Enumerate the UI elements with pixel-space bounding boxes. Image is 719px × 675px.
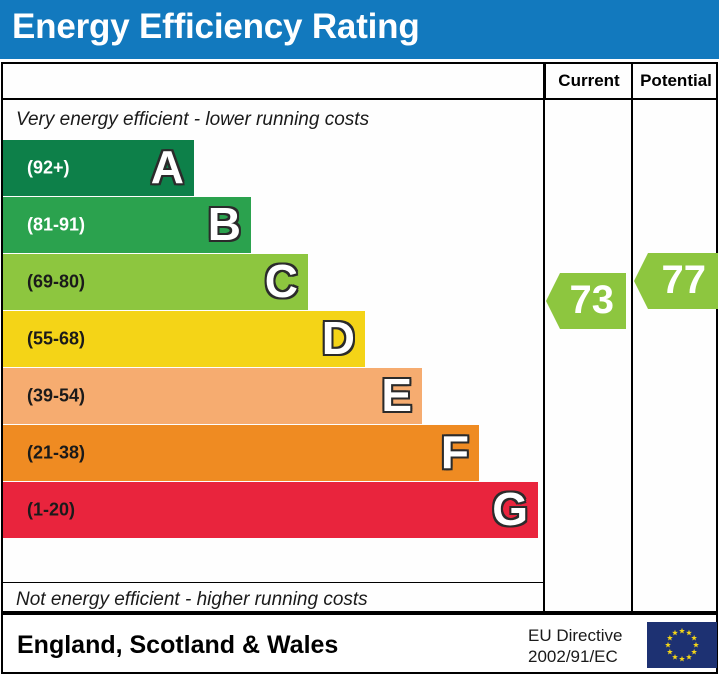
band-range-d: (55-68) [27, 329, 85, 350]
current-rating-value: 73 [570, 280, 615, 320]
band-range-b: (81-91) [27, 215, 85, 236]
band-letter-f: F [441, 429, 469, 475]
band-a: (92+)A [3, 140, 194, 196]
band-letter-g: G [492, 486, 528, 532]
band-f: (21-38)F [3, 425, 479, 481]
page-title: Energy Efficiency Rating [12, 7, 420, 47]
band-b: (81-91)B [3, 197, 251, 253]
eu-directive-line2: 2002/91/EC [528, 646, 622, 667]
band-g: (1-20)G [3, 482, 538, 538]
band-range-c: (69-80) [27, 272, 85, 293]
caption-efficient: Very energy efficient - lower running co… [16, 109, 369, 131]
column-divider-potential [631, 62, 633, 613]
potential-rating-arrow: 77 [634, 253, 718, 309]
band-range-f: (21-38) [27, 443, 85, 464]
caption-divider-bottom [1, 582, 543, 583]
band-letter-e: E [381, 372, 412, 418]
band-range-e: (39-54) [27, 386, 85, 407]
caption-inefficient: Not energy efficient - higher running co… [16, 589, 368, 611]
energy-efficiency-certificate: Energy Efficiency Rating Current Potenti… [0, 0, 719, 675]
band-letter-a: A [151, 144, 184, 190]
band-letter-c: C [265, 258, 298, 304]
eu-flag-icon [647, 622, 717, 668]
column-divider-current [543, 62, 545, 613]
current-rating-arrow: 73 [546, 273, 626, 329]
footer-bar: England, Scotland & Wales EU Directive 2… [1, 613, 718, 674]
potential-rating-value: 77 [662, 260, 707, 300]
column-header-potential: Potential [633, 62, 719, 99]
band-range-a: (92+) [27, 158, 70, 179]
eu-directive-line1: EU Directive [528, 625, 622, 646]
title-bar: Energy Efficiency Rating [0, 0, 719, 59]
header-divider [1, 98, 718, 100]
band-range-g: (1-20) [27, 500, 75, 521]
band-letter-b: B [208, 201, 241, 247]
footer-region-label: England, Scotland & Wales [17, 631, 338, 660]
band-c: (69-80)C [3, 254, 308, 310]
band-e: (39-54)E [3, 368, 422, 424]
band-letter-d: D [322, 315, 355, 361]
column-header-current: Current [544, 62, 633, 99]
band-d: (55-68)D [3, 311, 365, 367]
eu-directive-label: EU Directive 2002/91/EC [528, 625, 622, 667]
column-header-row: Current Potential [1, 62, 718, 99]
